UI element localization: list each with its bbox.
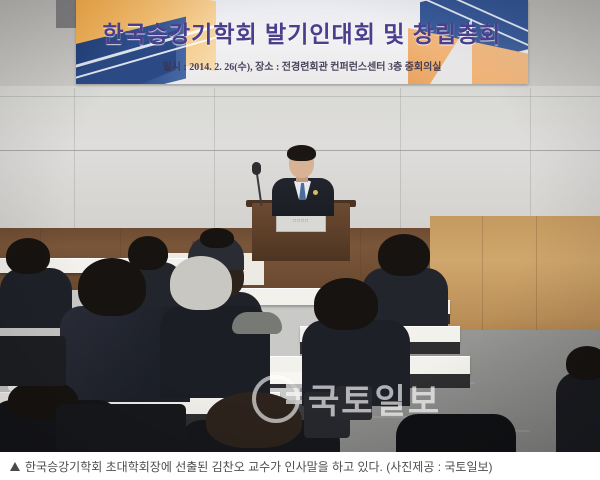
hat-on-desk <box>232 312 282 334</box>
event-banner: 한국승강기학회 발기인대회 및 창립총회 일시 : 2014. 2. 26(수)… <box>76 0 528 84</box>
speaker-lapel-badge <box>313 190 318 195</box>
event-photograph: 한국승강기학회 발기인대회 및 창립총회 일시 : 2014. 2. 26(수)… <box>0 0 600 452</box>
banner-subtitle: 일시 : 2014. 2. 26(수), 장소 : 전경련회관 컨퍼런스센터 3… <box>76 58 528 73</box>
wall-seam-upper <box>0 96 600 97</box>
wall-vertical-joint <box>74 88 75 233</box>
microphone-icon <box>252 162 261 175</box>
wood-wall-right <box>430 216 600 344</box>
photo-caption: 한국승강기학회 초대학회장에 선출된 김찬오 교수가 인사말을 하고 있다. (… <box>0 452 600 480</box>
news-photo-page: 한국승강기학회 발기인대회 및 창립총회 일시 : 2014. 2. 26(수)… <box>0 0 600 480</box>
bag-on-floor <box>336 386 372 420</box>
wall-vertical-joint <box>530 88 531 233</box>
banner-title: 한국승강기학회 발기인대회 및 창립총회 <box>76 15 528 49</box>
chair-back <box>56 404 186 452</box>
wall-vertical-joint <box>400 88 401 233</box>
speaker-glasses <box>290 158 313 164</box>
caption-triangle-icon <box>10 462 20 471</box>
wall-vertical-joint <box>214 88 215 233</box>
caption-text: 한국승강기학회 초대학회장에 선출된 김찬오 교수가 인사말을 하고 있다. (… <box>25 458 493 475</box>
podium-plaque-text: □□□□ <box>277 218 325 224</box>
chair-back <box>0 336 66 386</box>
